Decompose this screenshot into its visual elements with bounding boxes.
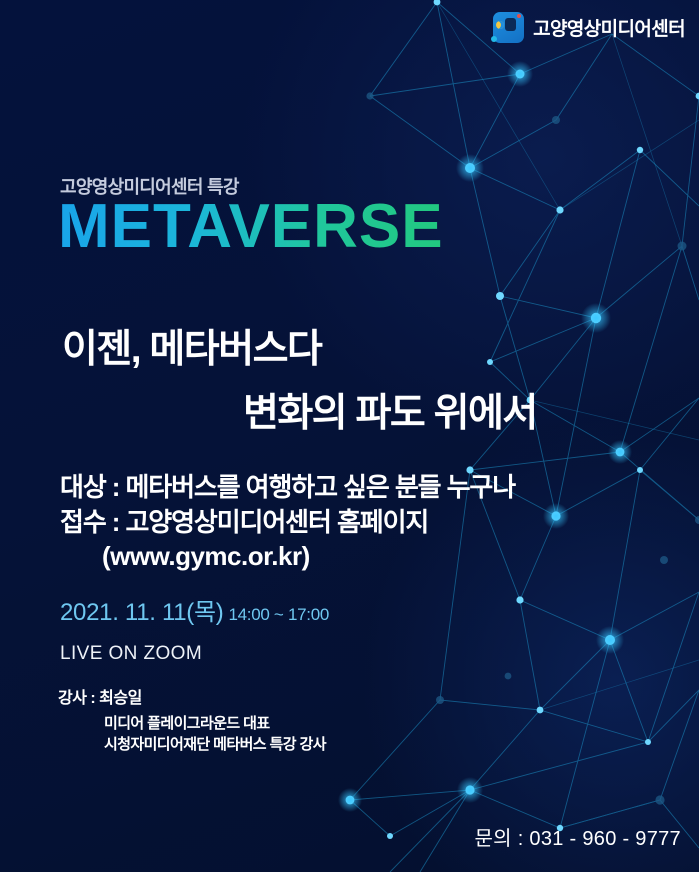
event-time: 14:00 ~ 17:00 — [228, 605, 329, 624]
logo-text: 고양영상미디어센터 — [533, 14, 685, 41]
platform-label: LIVE ON ZOOM — [60, 643, 202, 665]
logo-red-dot — [517, 14, 521, 18]
speaker-credits: 미디어 플레이그라운드 대표 시청자미디어재단 메타버스 특강 강사 — [104, 713, 326, 756]
event-date: 2021. 11. 11(목) — [60, 599, 223, 626]
audience-line: 대상 : 메타버스를 여행하고 싶은 분들 누구나 — [60, 470, 515, 505]
info-block: 대상 : 메타버스를 여행하고 싶은 분들 누구나 접수 : 고양영상미디어센터… — [60, 470, 515, 574]
speaker-credit-1: 미디어 플레이그라운드 대표 — [104, 713, 326, 734]
speaker-name: 강사 : 최승일 — [58, 684, 142, 708]
headline-line-1: 이젠, 메타버스다 — [62, 318, 321, 374]
headline-line-2: 변화의 파도 위에서 — [243, 382, 537, 438]
speaker-credit-2: 시청자미디어재단 메타버스 특강 강사 — [104, 734, 326, 755]
schedule-line: 2021. 11. 11(목)14:00 ~ 17:00 — [60, 592, 329, 627]
website-url[interactable]: (www.gymc.or.kr) — [60, 539, 515, 574]
logo-lens-shape — [505, 18, 516, 31]
contact-phone: 문의 : 031 - 960 - 9777 — [474, 822, 681, 851]
organization-logo: 고양영상미디어센터 — [493, 12, 685, 43]
registration-line: 접수 : 고양영상미디어센터 홈페이지 — [60, 505, 515, 540]
moon-icon — [496, 21, 504, 29]
logo-cyan-dot — [491, 36, 497, 42]
gymc-camera-moon-icon — [493, 12, 524, 43]
poster-title: METAVERSE — [58, 196, 444, 258]
poster-canvas: 고양영상미디어센터 고양영상미디어센터 특강 METAVERSE 이젠, 메타버… — [0, 0, 699, 872]
